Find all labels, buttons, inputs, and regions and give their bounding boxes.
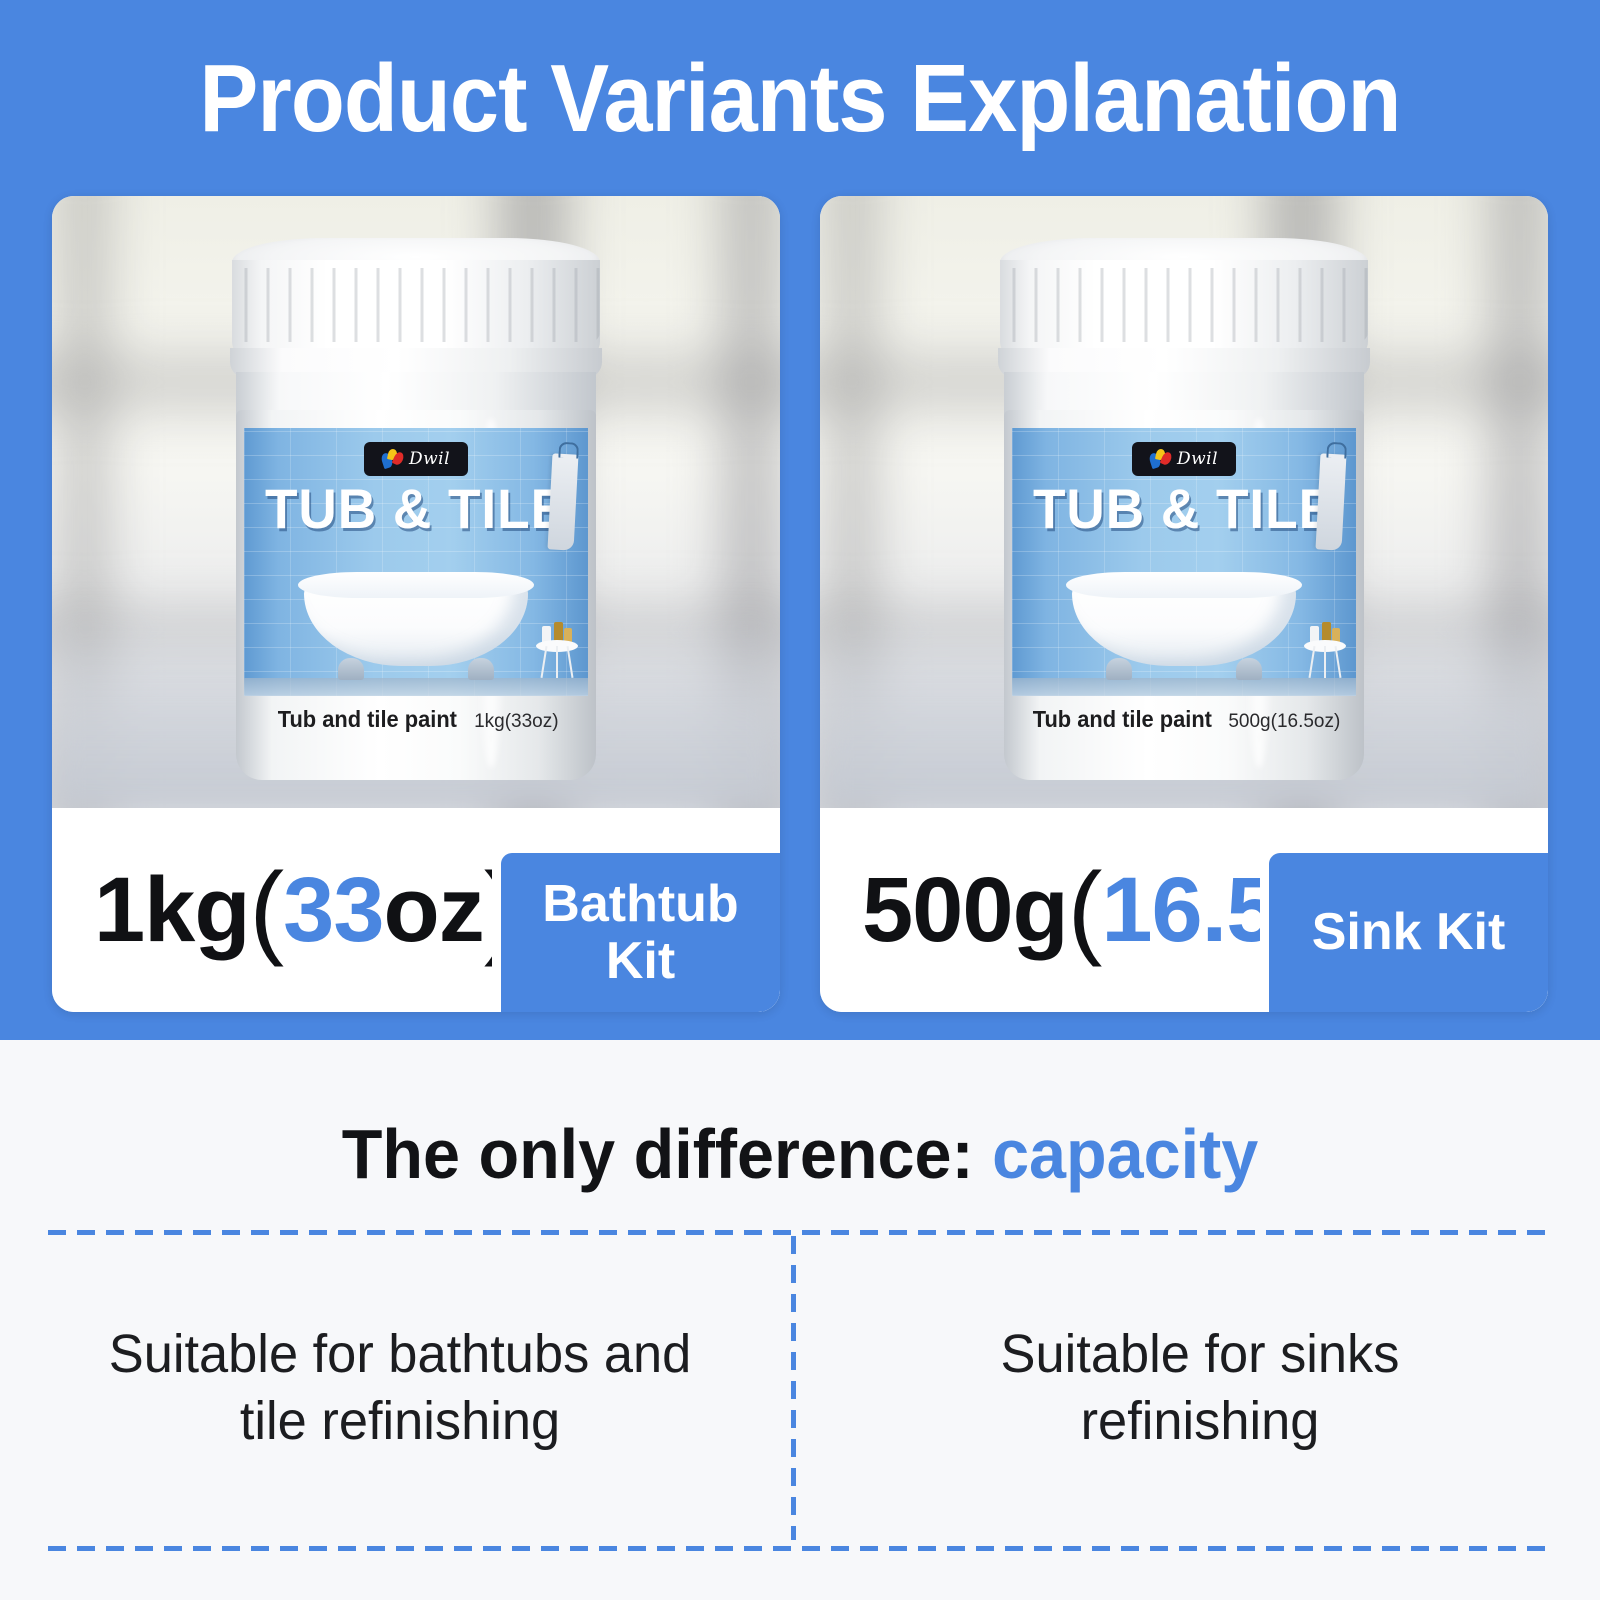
- weight-imperial-unit: oz: [384, 858, 484, 963]
- open-paren: (: [250, 851, 284, 970]
- badge-bathtub-kit[interactable]: Bathtub Kit: [492, 844, 780, 1012]
- paint-tub-illustration: Dwil TUB & TILE: [226, 238, 606, 783]
- description-text: Suitable for sinks refinishing: [880, 1321, 1520, 1455]
- bathtub-rim: [1066, 572, 1302, 598]
- divider-bottom: [48, 1546, 1552, 1551]
- tub-lid-ribs: [232, 268, 600, 342]
- tub-label-artwork: Dwil TUB & TILE: [244, 428, 588, 696]
- side-table-icon: [1304, 626, 1346, 678]
- label-floor: [1012, 678, 1356, 696]
- bathtub-foot-left: [338, 658, 364, 680]
- brand-logo-text: Dwil: [1177, 449, 1218, 469]
- difference-accent: capacity: [992, 1115, 1258, 1193]
- paint-splash-icon: [1150, 449, 1172, 469]
- paint-tub-illustration: Dwil TUB & TILE: [994, 238, 1374, 783]
- weight-metric: 1kg: [94, 858, 250, 963]
- header-panel: Product Variants Explanation: [0, 0, 1600, 1040]
- open-paren: (: [1068, 851, 1102, 970]
- tub-footer-label: Tub and tile paint: [278, 706, 457, 733]
- tub-label-artwork: Dwil TUB & TILE: [1012, 428, 1356, 696]
- tub-lid-ribs: [1000, 268, 1368, 342]
- badge-line-1: Sink Kit: [1312, 904, 1506, 960]
- towel-icon: [1316, 453, 1347, 550]
- badge-line-1: Bathtub: [542, 875, 738, 933]
- bathtub-foot-right: [468, 658, 494, 680]
- weight-metric: 500g: [862, 858, 1068, 963]
- card-bottom-bar-bathtub-kit: 1kg(33oz) Bathtub Kit: [52, 808, 780, 1012]
- comparison-section: The only difference: capacity Suitable f…: [0, 1040, 1600, 1600]
- badge-sink-kit[interactable]: Sink Kit: [1260, 844, 1548, 1012]
- product-card-row: Dwil TUB & TILE: [52, 196, 1548, 1012]
- brand-logo-plate: Dwil: [1132, 442, 1236, 476]
- difference-prefix: The only difference:: [342, 1115, 992, 1193]
- difference-headline: The only difference: capacity: [40, 1114, 1560, 1194]
- bathtub-foot-right: [1236, 658, 1262, 680]
- description-text: Suitable for bathtubs and tile refinishi…: [80, 1321, 720, 1455]
- label-floor: [244, 678, 588, 696]
- paint-splash-icon: [382, 449, 404, 469]
- label-product-name: TUB & TILE: [253, 476, 580, 541]
- tub-footer-strip: Tub and tile paint1kg(33oz): [236, 706, 596, 733]
- side-table-icon: [536, 626, 578, 678]
- tub-footer-strip: Tub and tile paint500g(16.5oz): [1004, 706, 1364, 733]
- tub-footer-size: 500g(16.5oz): [1228, 711, 1340, 733]
- card-bottom-bar-sink-kit: 500g(16.5oz) Sink Kit: [820, 808, 1548, 1012]
- tub-footer-label: Tub and tile paint: [1032, 706, 1211, 733]
- divider-top: [48, 1230, 1552, 1235]
- description-row: Suitable for bathtubs and tile refinishi…: [0, 1236, 1600, 1540]
- description-cell-bathtub-kit: Suitable for bathtubs and tile refinishi…: [0, 1236, 800, 1540]
- clawfoot-bathtub-icon: [1072, 568, 1296, 680]
- description-cell-sink-kit: Suitable for sinks refinishing: [800, 1236, 1600, 1540]
- towel-icon: [548, 453, 579, 550]
- tub-footer-size: 1kg(33oz): [474, 711, 559, 733]
- product-card-sink-kit[interactable]: Dwil TUB & TILE: [820, 196, 1548, 1012]
- bathtub-rim: [298, 572, 534, 598]
- weight-imperial: 33: [283, 858, 383, 963]
- clawfoot-bathtub-icon: [304, 568, 528, 680]
- page-title: Product Variants Explanation: [64, 44, 1536, 154]
- bathtub-foot-left: [1106, 658, 1132, 680]
- product-card-bathtub-kit[interactable]: Dwil TUB & TILE: [52, 196, 780, 1012]
- badge-line-2: Kit: [606, 932, 675, 990]
- label-product-name: TUB & TILE: [1021, 476, 1348, 541]
- weight-imperial: 16.5: [1101, 858, 1276, 963]
- brand-logo-text: Dwil: [409, 449, 450, 469]
- brand-logo-plate: Dwil: [364, 442, 468, 476]
